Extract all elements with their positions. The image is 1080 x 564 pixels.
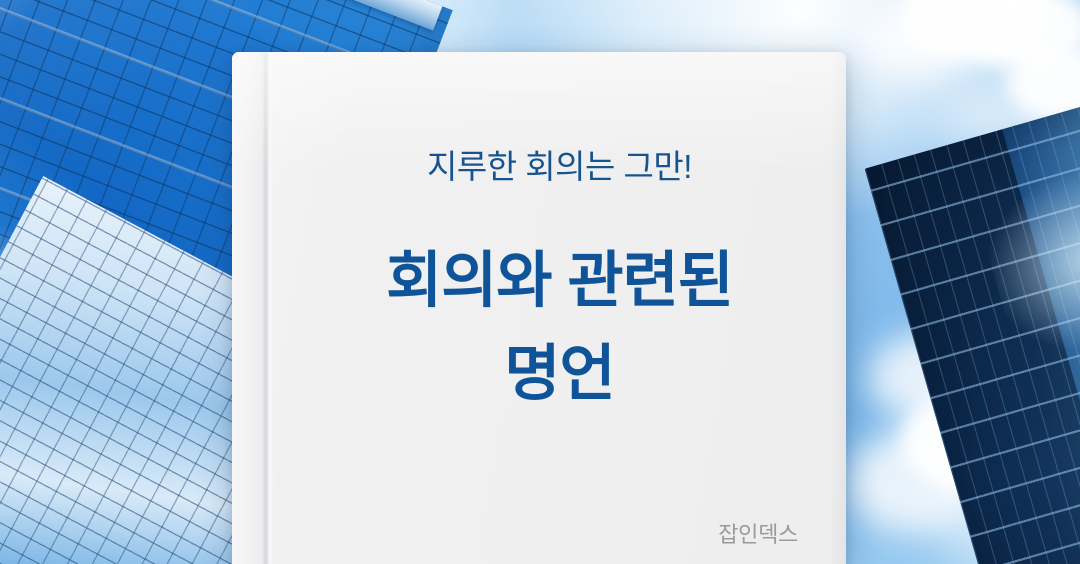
card-title-line-2: 명언 bbox=[273, 327, 846, 420]
book-spine-crease bbox=[262, 52, 273, 564]
card-content: 지루한 회의는 그만! 회의와 관련된 명언 잡인덱스 bbox=[273, 52, 846, 564]
thumbnail-canvas: 지루한 회의는 그만! 회의와 관련된 명언 잡인덱스 bbox=[0, 0, 1080, 564]
card-subtitle: 지루한 회의는 그만! bbox=[273, 149, 846, 185]
card-title: 회의와 관련된 명언 bbox=[273, 234, 846, 419]
book-card: 지루한 회의는 그만! 회의와 관련된 명언 잡인덱스 bbox=[232, 52, 846, 564]
brand-watermark: 잡인덱스 bbox=[718, 517, 798, 549]
card-title-line-1: 회의와 관련된 bbox=[273, 234, 846, 327]
book-left-cover bbox=[232, 52, 263, 564]
